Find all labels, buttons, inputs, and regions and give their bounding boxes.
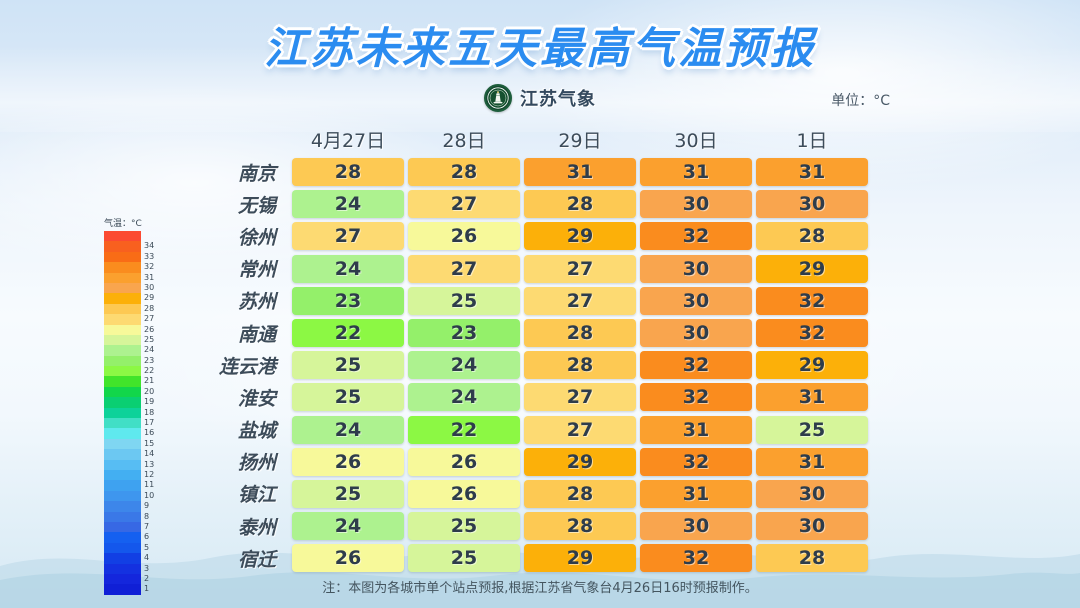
table-row: 南京2828313131: [190, 156, 870, 188]
temperature-cell-wrap: 25: [406, 544, 522, 572]
temperature-cell-wrap: 26: [406, 448, 522, 476]
table-row: 宿迁2625293228: [190, 542, 870, 574]
legend-swatch: [104, 470, 141, 480]
legend-row: 10: [104, 491, 168, 501]
city-label: 南京: [190, 159, 290, 186]
temperature-cell-wrap: 27: [522, 287, 638, 315]
temperature-cell-wrap: 24: [290, 512, 406, 540]
city-label: 常州: [190, 255, 290, 282]
city-label: 无锡: [190, 191, 290, 218]
brand-label: 江苏气象: [520, 85, 596, 111]
legend-row: 26: [104, 325, 168, 335]
table-header-row: 4月27日 28日 29日 30日 1日: [190, 122, 870, 156]
legend-value-label: 7: [144, 522, 149, 532]
legend-swatch: [104, 564, 141, 574]
legend-row: 14: [104, 449, 168, 459]
legend-swatch: [104, 449, 141, 459]
legend-row: 9: [104, 501, 168, 511]
temperature-cell: 30: [756, 190, 868, 218]
temperature-cell-wrap: 24: [406, 351, 522, 379]
legend-row: 31: [104, 273, 168, 283]
legend-row: 33: [104, 252, 168, 262]
temperature-cell-wrap: 25: [290, 383, 406, 411]
temperature-cell: 27: [408, 255, 520, 283]
legend-row: 8: [104, 512, 168, 522]
legend-value-label: 5: [144, 543, 149, 553]
legend-row: 24: [104, 345, 168, 355]
legend-swatch: [104, 283, 141, 293]
legend-value-label: 23: [144, 356, 154, 366]
temperature-cell: 25: [408, 287, 520, 315]
legend-swatch: [104, 273, 141, 283]
temperature-cell: 23: [292, 287, 404, 315]
temperature-cell: 26: [292, 448, 404, 476]
legend-value-label: 25: [144, 335, 154, 345]
column-header-day-5: 1日: [754, 126, 870, 153]
page-title: 江苏未来五天最高气温预报: [0, 14, 1080, 76]
temperature-cell: 24: [292, 255, 404, 283]
table-row: 连云港2524283229: [190, 349, 870, 381]
table-row: 苏州2325273032: [190, 285, 870, 317]
legend-swatch: [104, 397, 141, 407]
temperature-cell-wrap: 28: [754, 222, 870, 250]
legend-row: 30: [104, 283, 168, 293]
temperature-cell: 30: [640, 190, 752, 218]
legend-swatch: [104, 428, 141, 438]
legend-swatch: [104, 522, 141, 532]
brand-lockup: 江苏气象: [0, 84, 1080, 112]
legend-row: 3: [104, 564, 168, 574]
legend-value-label: 29: [144, 293, 154, 303]
temperature-cell: 32: [640, 351, 752, 379]
temperature-cell: 25: [408, 512, 520, 540]
legend-swatch: [104, 335, 141, 345]
temperature-cell-wrap: 28: [406, 158, 522, 186]
temperature-cell-wrap: 28: [522, 190, 638, 218]
legend-value-label: 6: [144, 532, 149, 542]
temperature-cell: 27: [524, 416, 636, 444]
table-row: 常州2427273029: [190, 253, 870, 285]
temperature-cell: 22: [408, 416, 520, 444]
temperature-cell: 32: [756, 287, 868, 315]
temperature-cell-wrap: 31: [638, 480, 754, 508]
temperature-cell-wrap: 27: [406, 255, 522, 283]
temperature-cell: 27: [524, 287, 636, 315]
temperature-cell: 28: [292, 158, 404, 186]
city-label: 镇江: [190, 480, 290, 507]
lighthouse-emblem-icon: [484, 84, 512, 112]
temperature-cell-wrap: 30: [638, 255, 754, 283]
legend-value-label: 17: [144, 418, 154, 428]
temperature-cell-wrap: 32: [754, 287, 870, 315]
temperature-cell-wrap: 28: [522, 319, 638, 347]
legend-swatch: [104, 480, 141, 490]
legend-row: 5: [104, 543, 168, 553]
city-label: 苏州: [190, 287, 290, 314]
temperature-cell-wrap: 31: [522, 158, 638, 186]
temperature-cell: 31: [524, 158, 636, 186]
temperature-cell-wrap: 22: [406, 416, 522, 444]
table-row: 淮安2524273231: [190, 381, 870, 413]
temperature-cell-wrap: 30: [638, 512, 754, 540]
temperature-cell: 30: [640, 319, 752, 347]
temperature-cell-wrap: 31: [638, 158, 754, 186]
temperature-cell-wrap: 27: [522, 383, 638, 411]
temperature-cell-wrap: 27: [522, 255, 638, 283]
temperature-cell: 24: [292, 190, 404, 218]
temperature-cell: 31: [756, 383, 868, 411]
legend-swatch: [104, 304, 141, 314]
legend-swatch: [104, 532, 141, 542]
temperature-cell-wrap: 32: [638, 351, 754, 379]
legend-row: 22: [104, 366, 168, 376]
temperature-cell: 27: [524, 255, 636, 283]
legend-value-label: 32: [144, 262, 154, 272]
column-header-day-1: 4月27日: [290, 126, 406, 153]
temperature-cell: 31: [756, 158, 868, 186]
temperature-cell: 29: [756, 351, 868, 379]
temperature-cell: 29: [524, 544, 636, 572]
temperature-cell: 31: [640, 158, 752, 186]
forecast-table: 4月27日 28日 29日 30日 1日 南京2828313131无锡24272…: [190, 122, 870, 574]
legend-row: 17: [104, 418, 168, 428]
temperature-cell: 28: [524, 190, 636, 218]
temperature-cell-wrap: 31: [638, 416, 754, 444]
legend-swatch: [104, 356, 141, 366]
legend-row: 27: [104, 314, 168, 324]
legend-value-label: 3: [144, 564, 149, 574]
legend-value-label: 30: [144, 283, 154, 293]
city-label: 盐城: [190, 416, 290, 443]
legend-row: 25: [104, 335, 168, 345]
temperature-cell: 30: [756, 512, 868, 540]
temperature-cell: 29: [524, 448, 636, 476]
temperature-cell: 29: [524, 222, 636, 250]
city-label: 徐州: [190, 223, 290, 250]
temperature-cell-wrap: 26: [406, 222, 522, 250]
temperature-cell: 27: [524, 383, 636, 411]
temperature-legend: 气温：°C 3433323130292827262524232221201918…: [104, 216, 168, 595]
legend-value-label: 12: [144, 470, 154, 480]
temperature-cell: 24: [292, 512, 404, 540]
temperature-cell: 31: [640, 480, 752, 508]
table-row: 南通2223283032: [190, 317, 870, 349]
legend-title: 气温：°C: [104, 216, 168, 229]
table-row: 镇江2526283130: [190, 478, 870, 510]
legend-value-label: 19: [144, 397, 154, 407]
legend-value-label: 26: [144, 325, 154, 335]
legend-value-label: 18: [144, 408, 154, 418]
temperature-cell-wrap: 27: [522, 416, 638, 444]
temperature-cell-wrap: 26: [290, 448, 406, 476]
temperature-cell-wrap: 30: [754, 480, 870, 508]
legend-swatch: [104, 252, 141, 262]
legend-value-label: 31: [144, 273, 154, 283]
table-row: 泰州2425283030: [190, 510, 870, 542]
temperature-cell: 25: [292, 351, 404, 379]
temperature-cell-wrap: 26: [290, 544, 406, 572]
legend-value-label: 34: [144, 241, 154, 251]
legend-row: 13: [104, 460, 168, 470]
temperature-cell: 24: [408, 351, 520, 379]
temperature-cell-wrap: 32: [638, 383, 754, 411]
table-row: 徐州2726293228: [190, 220, 870, 252]
temperature-cell: 28: [408, 158, 520, 186]
column-header-day-3: 29日: [522, 126, 638, 153]
city-label: 泰州: [190, 513, 290, 540]
temperature-cell-wrap: 30: [638, 319, 754, 347]
legend-value-label: 14: [144, 449, 154, 459]
legend-swatch: [104, 418, 141, 428]
legend-value-label: 22: [144, 366, 154, 376]
legend-swatch: [104, 366, 141, 376]
temperature-cell-wrap: 24: [290, 416, 406, 444]
legend-row: 29: [104, 293, 168, 303]
temperature-cell-wrap: 30: [638, 190, 754, 218]
legend-row: 6: [104, 532, 168, 542]
temperature-cell-wrap: 29: [754, 351, 870, 379]
legend-swatch: [104, 387, 141, 397]
legend-value-label: 8: [144, 512, 149, 522]
temperature-cell: 32: [640, 544, 752, 572]
temperature-cell: 22: [292, 319, 404, 347]
legend-row: 15: [104, 439, 168, 449]
temperature-cell-wrap: 25: [290, 480, 406, 508]
city-label: 淮安: [190, 384, 290, 411]
legend-row: 12: [104, 470, 168, 480]
legend-swatch: [104, 345, 141, 355]
temperature-cell-wrap: 28: [290, 158, 406, 186]
unit-label: 单位：°C: [831, 90, 890, 110]
legend-swatch: [104, 408, 141, 418]
temperature-cell-wrap: 29: [522, 222, 638, 250]
temperature-cell: 30: [640, 512, 752, 540]
legend-value-label: 11: [144, 480, 154, 490]
temperature-cell: 32: [640, 222, 752, 250]
legend-row: 20: [104, 387, 168, 397]
temperature-cell-wrap: 32: [638, 448, 754, 476]
legend-swatch: [104, 512, 141, 522]
legend-row: 23: [104, 356, 168, 366]
temperature-cell: 31: [756, 448, 868, 476]
legend-value-label: 16: [144, 428, 154, 438]
legend-value-label: 9: [144, 501, 149, 511]
temperature-cell: 29: [756, 255, 868, 283]
city-label: 连云港: [190, 352, 290, 379]
temperature-cell: 26: [292, 544, 404, 572]
city-label: 宿迁: [190, 545, 290, 572]
temperature-cell-wrap: 28: [754, 544, 870, 572]
temperature-cell-wrap: 28: [522, 351, 638, 379]
temperature-cell-wrap: 31: [754, 448, 870, 476]
temperature-cell-wrap: 29: [522, 544, 638, 572]
legend-swatch: [104, 460, 141, 470]
legend-value-label: 27: [144, 314, 154, 324]
temperature-cell-wrap: 31: [754, 158, 870, 186]
temperature-cell-wrap: 32: [638, 544, 754, 572]
legend-value-label: 10: [144, 491, 154, 501]
temperature-cell-wrap: 29: [754, 255, 870, 283]
temperature-cell-wrap: 32: [638, 222, 754, 250]
temperature-cell-wrap: 23: [406, 319, 522, 347]
temperature-cell-wrap: 30: [754, 190, 870, 218]
city-label: 南通: [190, 320, 290, 347]
legend-row: 7: [104, 522, 168, 532]
temperature-cell: 28: [524, 512, 636, 540]
temperature-cell: 25: [292, 383, 404, 411]
temperature-cell-wrap: 28: [522, 480, 638, 508]
legend-row: 32: [104, 262, 168, 272]
temperature-cell: 27: [408, 190, 520, 218]
temperature-cell-wrap: 26: [406, 480, 522, 508]
temperature-cell: 26: [408, 448, 520, 476]
legend-value-label: 24: [144, 345, 154, 355]
temperature-cell-wrap: 24: [290, 255, 406, 283]
temperature-cell: 25: [408, 544, 520, 572]
legend-value-label: 4: [144, 553, 149, 563]
temperature-cell-wrap: 25: [754, 416, 870, 444]
temperature-cell: 24: [408, 383, 520, 411]
legend-swatch: [104, 262, 141, 272]
legend-swatch: [104, 543, 141, 553]
temperature-cell: 32: [640, 448, 752, 476]
legend-swatch: [104, 501, 141, 511]
legend-swatch: [104, 439, 141, 449]
temperature-cell: 31: [640, 416, 752, 444]
table-row: 无锡2427283030: [190, 188, 870, 220]
legend-stop-list: 3433323130292827262524232221201918171615…: [104, 231, 168, 595]
temperature-cell-wrap: 24: [406, 383, 522, 411]
table-row: 扬州2626293231: [190, 446, 870, 478]
city-label: 扬州: [190, 448, 290, 475]
temperature-cell-wrap: 32: [754, 319, 870, 347]
legend-row: 19: [104, 397, 168, 407]
temperature-cell-wrap: 27: [406, 190, 522, 218]
temperature-cell-wrap: 30: [754, 512, 870, 540]
column-header-day-4: 30日: [638, 126, 754, 153]
legend-value-label: 21: [144, 376, 154, 386]
temperature-cell-wrap: 30: [638, 287, 754, 315]
temperature-cell-wrap: 31: [754, 383, 870, 411]
temperature-cell-wrap: 27: [290, 222, 406, 250]
legend-row: 4: [104, 553, 168, 563]
temperature-cell: 26: [408, 222, 520, 250]
legend-row: 21: [104, 376, 168, 386]
temperature-cell-wrap: 24: [290, 190, 406, 218]
temperature-cell: 28: [756, 544, 868, 572]
temperature-cell-wrap: 22: [290, 319, 406, 347]
legend-row: 16: [104, 428, 168, 438]
legend-swatch: [104, 241, 141, 251]
legend-value-label: 28: [144, 304, 154, 314]
legend-row: 11: [104, 480, 168, 490]
temperature-cell: 28: [524, 351, 636, 379]
legend-swatch: [104, 553, 141, 563]
legend-swatch: [104, 231, 141, 241]
temperature-cell-wrap: 29: [522, 448, 638, 476]
temperature-cell: 28: [524, 319, 636, 347]
temperature-cell: 26: [408, 480, 520, 508]
temperature-cell: 32: [640, 383, 752, 411]
temperature-cell: 25: [292, 480, 404, 508]
temperature-cell: 30: [756, 480, 868, 508]
temperature-cell-wrap: 25: [290, 351, 406, 379]
legend-value-label: 13: [144, 460, 154, 470]
legend-row: 28: [104, 304, 168, 314]
table-row: 盐城2422273125: [190, 414, 870, 446]
legend-swatch: [104, 491, 141, 501]
column-header-day-2: 28日: [406, 126, 522, 153]
legend-value-label: 33: [144, 252, 154, 262]
legend-swatch: [104, 325, 141, 335]
temperature-cell: 25: [756, 416, 868, 444]
legend-value-label: 20: [144, 387, 154, 397]
legend-row: [104, 231, 168, 241]
temperature-cell: 32: [756, 319, 868, 347]
legend-value-label: 15: [144, 439, 154, 449]
temperature-cell-wrap: 23: [290, 287, 406, 315]
temperature-cell: 28: [524, 480, 636, 508]
temperature-cell-wrap: 25: [406, 287, 522, 315]
footer-note: 注：本图为各城市单个站点预报,根据江苏省气象台4月26日16时预报制作。: [0, 577, 1080, 596]
temperature-cell: 28: [756, 222, 868, 250]
temperature-cell: 23: [408, 319, 520, 347]
legend-swatch: [104, 376, 141, 386]
table-body: 南京2828313131无锡2427283030徐州2726293228常州24…: [190, 156, 870, 574]
temperature-cell-wrap: 25: [406, 512, 522, 540]
temperature-cell: 24: [292, 416, 404, 444]
temperature-cell: 30: [640, 287, 752, 315]
legend-swatch: [104, 293, 141, 303]
legend-row: 18: [104, 408, 168, 418]
temperature-cell: 27: [292, 222, 404, 250]
legend-row: 34: [104, 241, 168, 251]
temperature-cell: 30: [640, 255, 752, 283]
temperature-cell-wrap: 28: [522, 512, 638, 540]
legend-swatch: [104, 314, 141, 324]
